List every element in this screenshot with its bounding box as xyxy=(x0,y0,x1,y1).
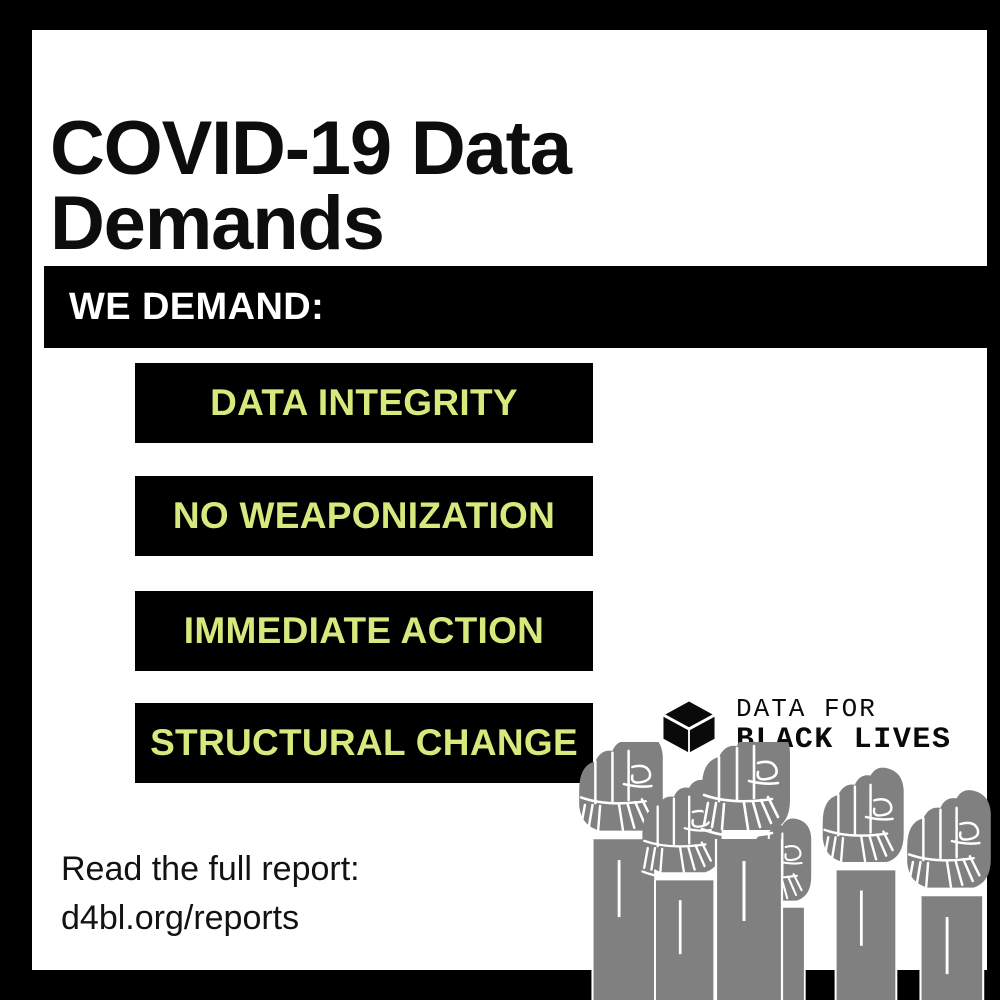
report-url[interactable]: d4bl.org/reports xyxy=(61,894,360,943)
fist-1 xyxy=(579,742,663,1000)
logo-line-data-for: DATA FOR xyxy=(736,696,952,722)
fist-3 xyxy=(702,742,790,1000)
demand-chip-label: STRUCTURAL CHANGE xyxy=(150,722,578,764)
demand-chip-label: DATA INTEGRITY xyxy=(210,382,518,424)
fist-6 xyxy=(907,790,991,1000)
demand-chip-no-weaponization: NO WEAPONIZATION xyxy=(135,476,593,556)
we-demand-label: WE DEMAND: xyxy=(69,286,324,329)
demand-chip-data-integrity: DATA INTEGRITY xyxy=(135,363,593,443)
demand-chip-immediate-action: IMMEDIATE ACTION xyxy=(135,591,593,671)
page-title: COVID-19 Data Demands xyxy=(50,111,810,261)
demand-chip-structural-change: STRUCTURAL CHANGE xyxy=(135,703,593,783)
read-report-prompt: Read the full report: xyxy=(61,845,360,894)
demand-chip-label: IMMEDIATE ACTION xyxy=(184,610,544,652)
we-demand-bar: WE DEMAND: xyxy=(44,266,987,348)
poster-canvas: COVID-19 Data Demands WE DEMAND: DATA IN… xyxy=(0,0,1000,1000)
raised-fists-illustration xyxy=(560,742,1000,1000)
read-report-block: Read the full report: d4bl.org/reports xyxy=(61,845,360,944)
fist-5 xyxy=(823,768,904,1000)
demand-chip-label: NO WEAPONIZATION xyxy=(173,495,555,537)
